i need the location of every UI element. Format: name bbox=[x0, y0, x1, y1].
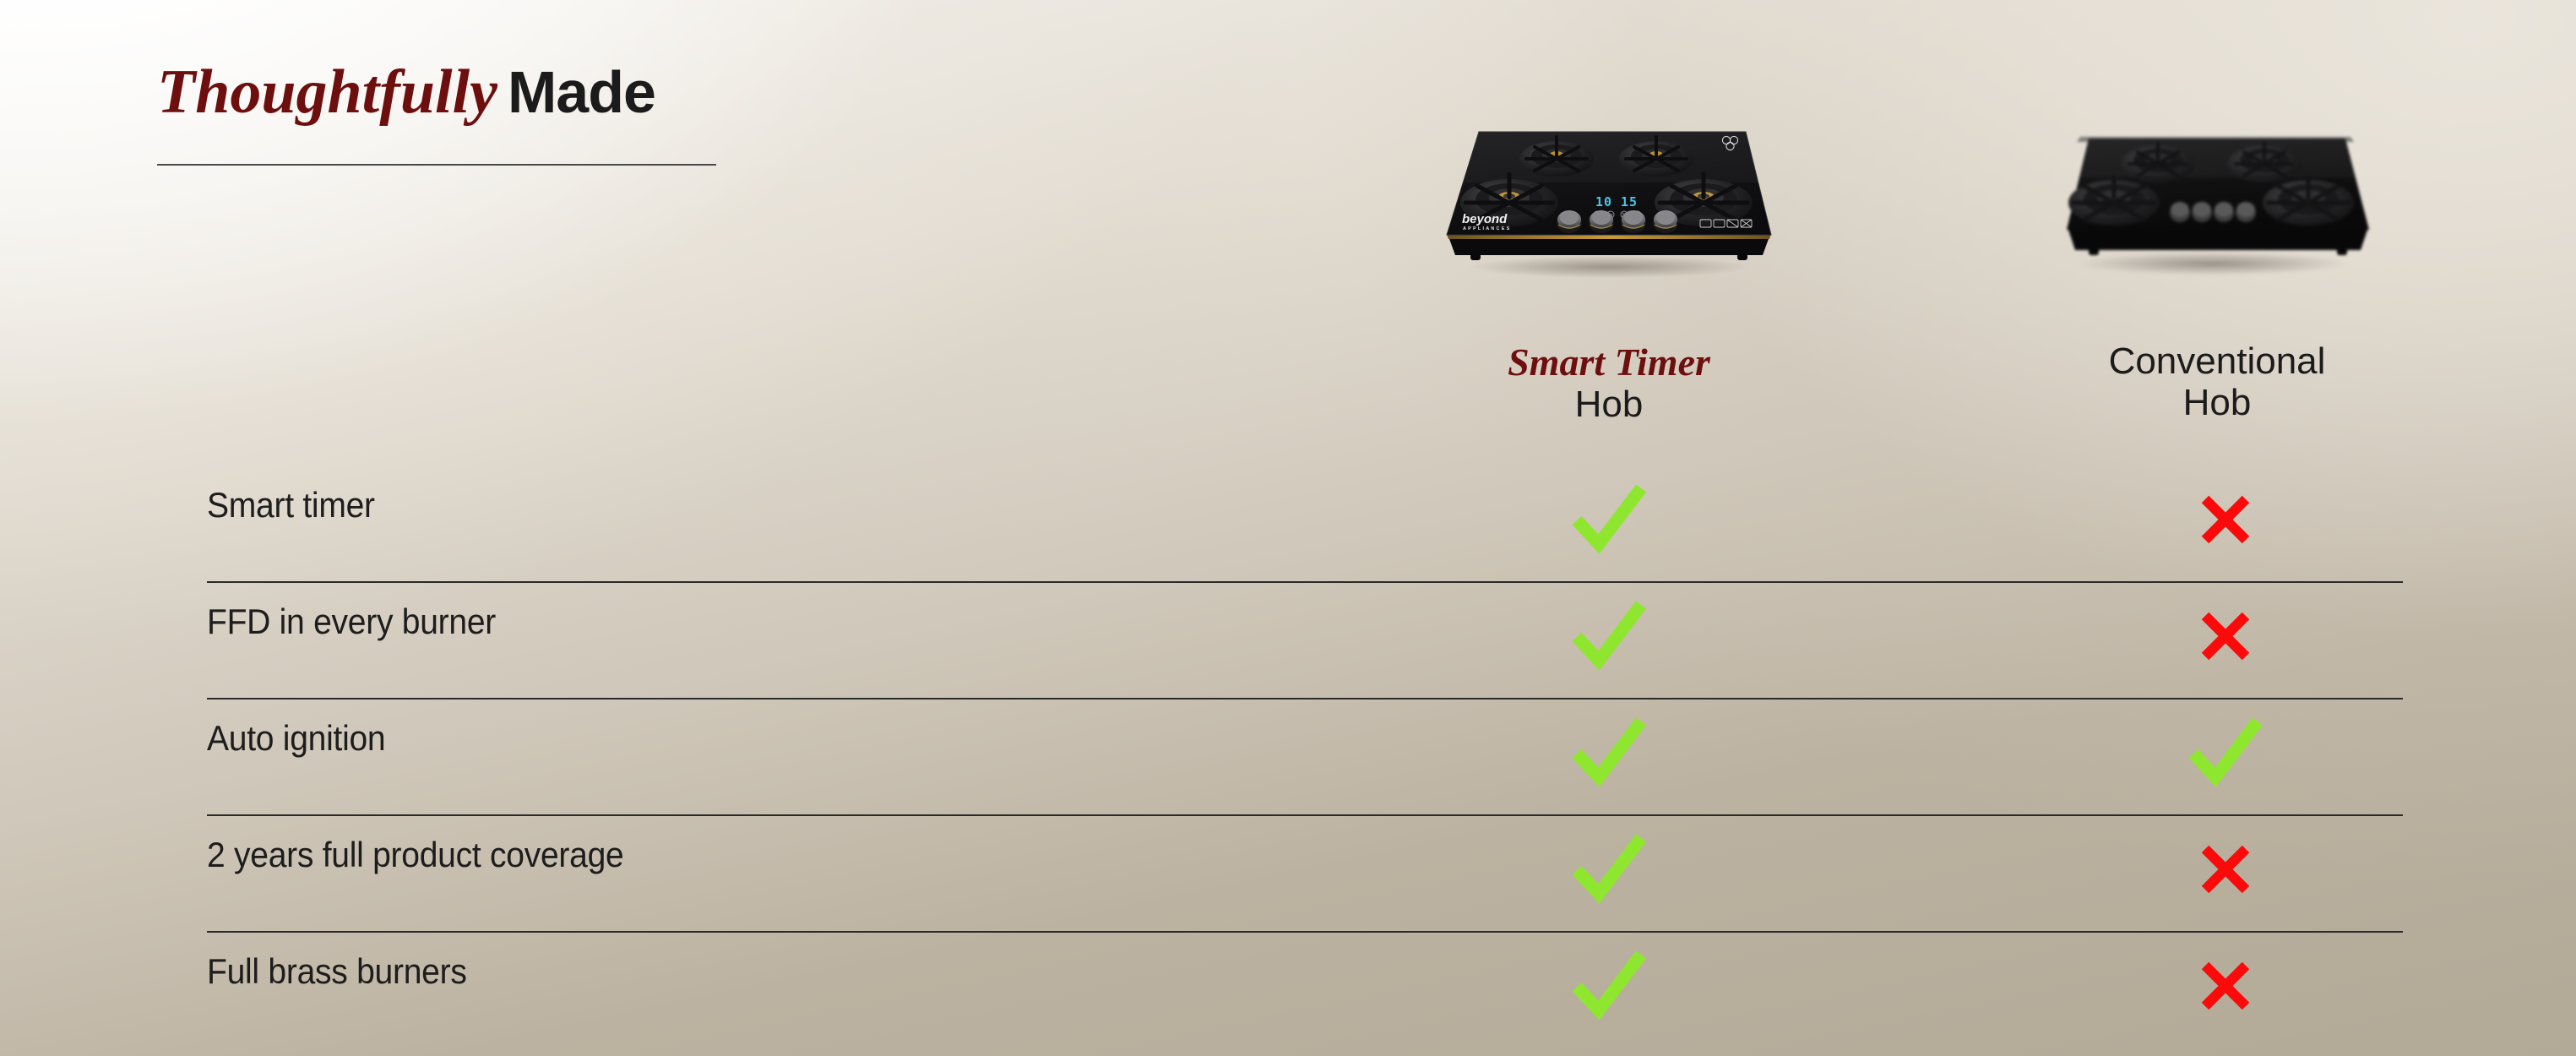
feature-label: Auto ignition bbox=[207, 718, 385, 759]
conventional-mark bbox=[2175, 590, 2276, 683]
title-underline-rule bbox=[157, 164, 716, 166]
conventional-mark bbox=[2175, 706, 2276, 799]
product-caption-secondary: Hob bbox=[1997, 382, 2437, 423]
product-caption-primary: Smart Timer bbox=[1389, 341, 1829, 384]
check-icon bbox=[1570, 483, 1648, 556]
check-icon bbox=[2187, 716, 2264, 789]
smart-timer-mark bbox=[1558, 590, 1660, 683]
page-title-emphasis: Thoughtfully bbox=[157, 57, 497, 127]
svg-text:beyond: beyond bbox=[1462, 212, 1508, 226]
table-row: Smart timer bbox=[207, 466, 2403, 583]
smart-timer-mark bbox=[1558, 823, 1660, 916]
product-column-smart-timer: 10 15 bbox=[1389, 118, 1829, 425]
cross-icon bbox=[2198, 842, 2253, 896]
conventional-hob-image bbox=[1997, 118, 2437, 329]
smart-timer-mark bbox=[1558, 473, 1660, 566]
page-title-rest: Made bbox=[508, 59, 655, 125]
table-row: FFD in every burner bbox=[207, 583, 2403, 699]
svg-text:APPLIANCES: APPLIANCES bbox=[1463, 226, 1511, 231]
comparison-table: Smart timer FFD in every burner bbox=[207, 466, 2403, 1049]
check-icon bbox=[1570, 716, 1648, 789]
feature-label: FFD in every burner bbox=[207, 601, 496, 642]
svg-text:10: 10 bbox=[1595, 194, 1612, 210]
feature-label: Full brass burners bbox=[207, 951, 467, 992]
brand-logo: beyond APPLIANCES bbox=[1462, 212, 1511, 231]
table-row: Full brass burners bbox=[207, 933, 2403, 1049]
hob-illustration: 10 15 bbox=[1432, 118, 1786, 279]
feature-label: 2 years full product coverage bbox=[207, 835, 623, 875]
svg-text:15: 15 bbox=[1621, 194, 1638, 210]
cross-icon bbox=[2198, 609, 2253, 663]
check-icon bbox=[1570, 600, 1648, 672]
cross-icon bbox=[2198, 959, 2253, 1013]
marketing-slide: ThoughtfullyMade bbox=[0, 0, 2576, 1056]
smart-timer-hob-image: 10 15 bbox=[1389, 118, 1829, 329]
product-caption-primary: Conventional bbox=[1997, 341, 2437, 382]
smart-timer-mark bbox=[1558, 706, 1660, 799]
conventional-mark bbox=[2175, 823, 2276, 916]
check-icon bbox=[1570, 950, 1648, 1022]
hob-illustration bbox=[2040, 118, 2394, 279]
feature-label: Smart timer bbox=[207, 485, 375, 525]
smart-timer-mark bbox=[1558, 939, 1660, 1032]
check-icon bbox=[1570, 833, 1648, 906]
table-row: Auto ignition bbox=[207, 699, 2403, 816]
table-row: 2 years full product coverage bbox=[207, 816, 2403, 933]
product-column-conventional: Conventional Hob bbox=[1997, 118, 2437, 423]
conventional-mark bbox=[2175, 939, 2276, 1032]
page-title: ThoughtfullyMade bbox=[157, 61, 1002, 123]
conventional-mark bbox=[2175, 473, 2276, 566]
cross-icon bbox=[2198, 493, 2253, 547]
product-caption-secondary: Hob bbox=[1389, 384, 1829, 425]
